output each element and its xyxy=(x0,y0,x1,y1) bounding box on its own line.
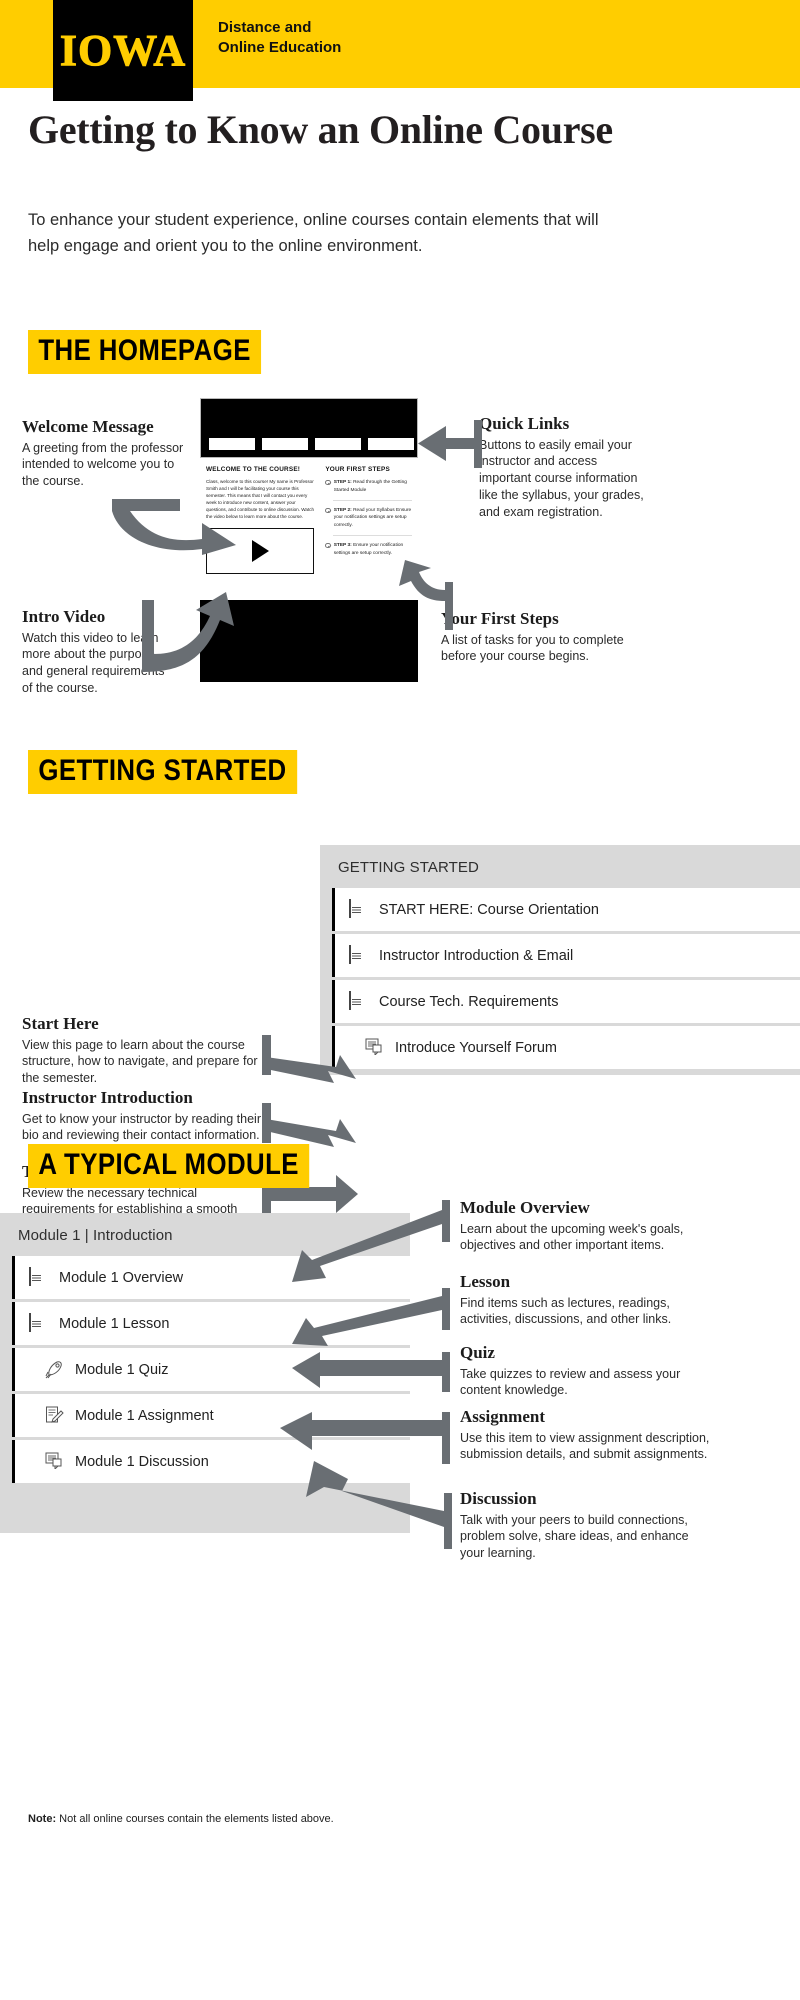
callout-instructor-introduction: Instructor Introduction Get to know your… xyxy=(22,1088,262,1144)
callout-assignment: Assignment Use this item to view assignm… xyxy=(460,1407,710,1463)
callout-body: A list of tasks for you to complete befo… xyxy=(441,632,626,666)
list-item[interactable]: Instructor Introduction & Email xyxy=(332,934,800,977)
quick-link-button[interactable] xyxy=(262,438,308,450)
callout-body: Use this item to view assignment descrip… xyxy=(460,1430,710,1464)
intro-paragraph: To enhance your student experience, onli… xyxy=(28,207,618,260)
footnote-label: Note: xyxy=(28,1813,56,1825)
mockup-banner-image xyxy=(200,398,418,458)
callout-heading: Start Here xyxy=(22,1014,262,1034)
mockup-steps-kicker: YOUR FIRST STEPS xyxy=(325,466,412,473)
callout-heading: Module Overview xyxy=(460,1198,710,1218)
page-title: Getting to Know an Online Course xyxy=(28,108,728,153)
header-subtitle: Distance and Online Education xyxy=(218,18,341,59)
callout-discussion: Discussion Talk with your peers to build… xyxy=(460,1489,710,1562)
list-item-label: START HERE: Course Orientation xyxy=(379,902,599,918)
footnote: Note: Not all online courses contain the… xyxy=(28,1813,334,1825)
document-icon xyxy=(349,946,367,966)
quick-link-button[interactable] xyxy=(315,438,361,450)
arrow-lesson xyxy=(292,1288,452,1358)
callout-first-steps: Your First Steps A list of tasks for you… xyxy=(441,609,626,665)
document-icon xyxy=(349,992,367,1012)
callout-quiz: Quiz Take quizzes to review and assess y… xyxy=(460,1343,710,1399)
header-subtitle-line1: Distance and xyxy=(218,18,341,38)
document-icon xyxy=(349,900,367,920)
infographic-page: IOWA Distance and Online Education Getti… xyxy=(0,0,800,2000)
callout-body: View this page to learn about the course… xyxy=(22,1037,262,1088)
step-label: STEP 3: xyxy=(334,543,352,548)
callout-heading: Welcome Message xyxy=(22,417,192,437)
quick-link-button[interactable] xyxy=(368,438,414,450)
mockup-welcome-kicker: WELCOME TO THE COURSE! xyxy=(206,466,315,473)
mockup-step-item: STEP 1: Read through the Getting Started… xyxy=(325,479,412,495)
callout-body: Find items such as lectures, readings, a… xyxy=(460,1295,710,1329)
arrow-quiz xyxy=(292,1352,452,1392)
logo-text: IOWA xyxy=(60,29,186,73)
section-banner-homepage: THE HOMEPAGE xyxy=(28,330,261,374)
callout-heading: Quiz xyxy=(460,1343,710,1363)
discussion-icon xyxy=(365,1038,383,1058)
callout-lesson: Lesson Find items such as lectures, read… xyxy=(460,1272,710,1328)
divider xyxy=(333,535,412,536)
callout-heading: Quick Links xyxy=(479,414,647,434)
callout-body: Learn about the upcoming week's goals, o… xyxy=(460,1221,710,1255)
list-item-label: Introduce Yourself Forum xyxy=(395,1040,557,1056)
section-banner-typical-module: A TYPICAL MODULE xyxy=(28,1144,309,1188)
document-icon xyxy=(29,1314,47,1334)
callout-body: Buttons to easily email your instructor … xyxy=(479,437,647,521)
callout-body: Take quizzes to review and assess your c… xyxy=(460,1366,710,1400)
arrow-quick-links xyxy=(418,420,484,468)
callout-heading: Assignment xyxy=(460,1407,710,1427)
callout-quick-links: Quick Links Buttons to easily email your… xyxy=(479,414,647,521)
mockup-steps-column: YOUR FIRST STEPS STEP 1: Read through th… xyxy=(325,466,412,574)
check-circle-icon xyxy=(325,543,330,548)
rocket-icon xyxy=(45,1360,63,1380)
step-label: STEP 2: xyxy=(334,508,352,513)
discussion-icon xyxy=(45,1452,63,1472)
callout-body: Get to know your instructor by reading t… xyxy=(22,1111,262,1145)
header-subtitle-line2: Online Education xyxy=(218,38,341,58)
arrow-first-steps xyxy=(395,560,455,630)
callout-body: Talk with your peers to build connection… xyxy=(460,1512,710,1563)
list-item-label: Module 1 Quiz xyxy=(75,1362,169,1378)
arrow-module-overview xyxy=(292,1200,452,1290)
callout-heading: Lesson xyxy=(460,1272,710,1292)
list-item-label: Module 1 Overview xyxy=(59,1270,183,1286)
check-circle-icon xyxy=(325,480,330,485)
mockup-quick-links[interactable] xyxy=(209,438,414,450)
list-item[interactable]: START HERE: Course Orientation xyxy=(332,888,800,931)
list-item-label: Course Tech. Requirements xyxy=(379,994,558,1010)
assignment-icon xyxy=(45,1406,63,1426)
divider xyxy=(333,500,412,501)
list-item[interactable]: Course Tech. Requirements xyxy=(332,980,800,1023)
mockup-step-item: STEP 2: Read your Syllabus Ensure your n… xyxy=(325,507,412,530)
mockup-step-item: STEP 3: Ensure your notification setting… xyxy=(325,542,412,558)
play-icon xyxy=(252,540,269,562)
callout-heading: Your First Steps xyxy=(441,609,626,629)
arrow-discussion xyxy=(300,1455,452,1555)
arrow-welcome-message xyxy=(110,497,240,557)
iowa-logo: IOWA xyxy=(53,0,193,101)
check-circle-icon xyxy=(325,508,330,513)
list-item-label: Module 1 Discussion xyxy=(75,1454,209,1470)
callout-welcome-message: Welcome Message A greeting from the prof… xyxy=(22,417,192,490)
getting-started-panel: GETTING STARTED START HERE: Course Orien… xyxy=(320,845,800,1075)
quick-link-button[interactable] xyxy=(209,438,255,450)
footnote-text: Not all online courses contain the eleme… xyxy=(56,1813,334,1825)
callout-body: A greeting from the professor intended t… xyxy=(22,440,192,491)
list-item-label: Module 1 Assignment xyxy=(75,1408,214,1424)
callout-heading: Instructor Introduction xyxy=(22,1088,262,1108)
callout-heading: Discussion xyxy=(460,1489,710,1509)
panel-title: GETTING STARTED xyxy=(320,845,800,888)
arrow-start-here xyxy=(262,1035,358,1093)
document-icon xyxy=(29,1268,47,1288)
callout-start-here: Start Here View this page to learn about… xyxy=(22,1014,262,1087)
section-banner-getting-started: GETTING STARTED xyxy=(28,750,297,794)
arrow-intro-video xyxy=(140,590,250,700)
list-item-label: Instructor Introduction & Email xyxy=(379,948,573,964)
step-label: STEP 1: xyxy=(334,480,352,485)
list-item-label: Module 1 Lesson xyxy=(59,1316,169,1332)
callout-module-overview: Module Overview Learn about the upcoming… xyxy=(460,1198,710,1254)
list-item[interactable]: Introduce Yourself Forum xyxy=(332,1026,800,1069)
